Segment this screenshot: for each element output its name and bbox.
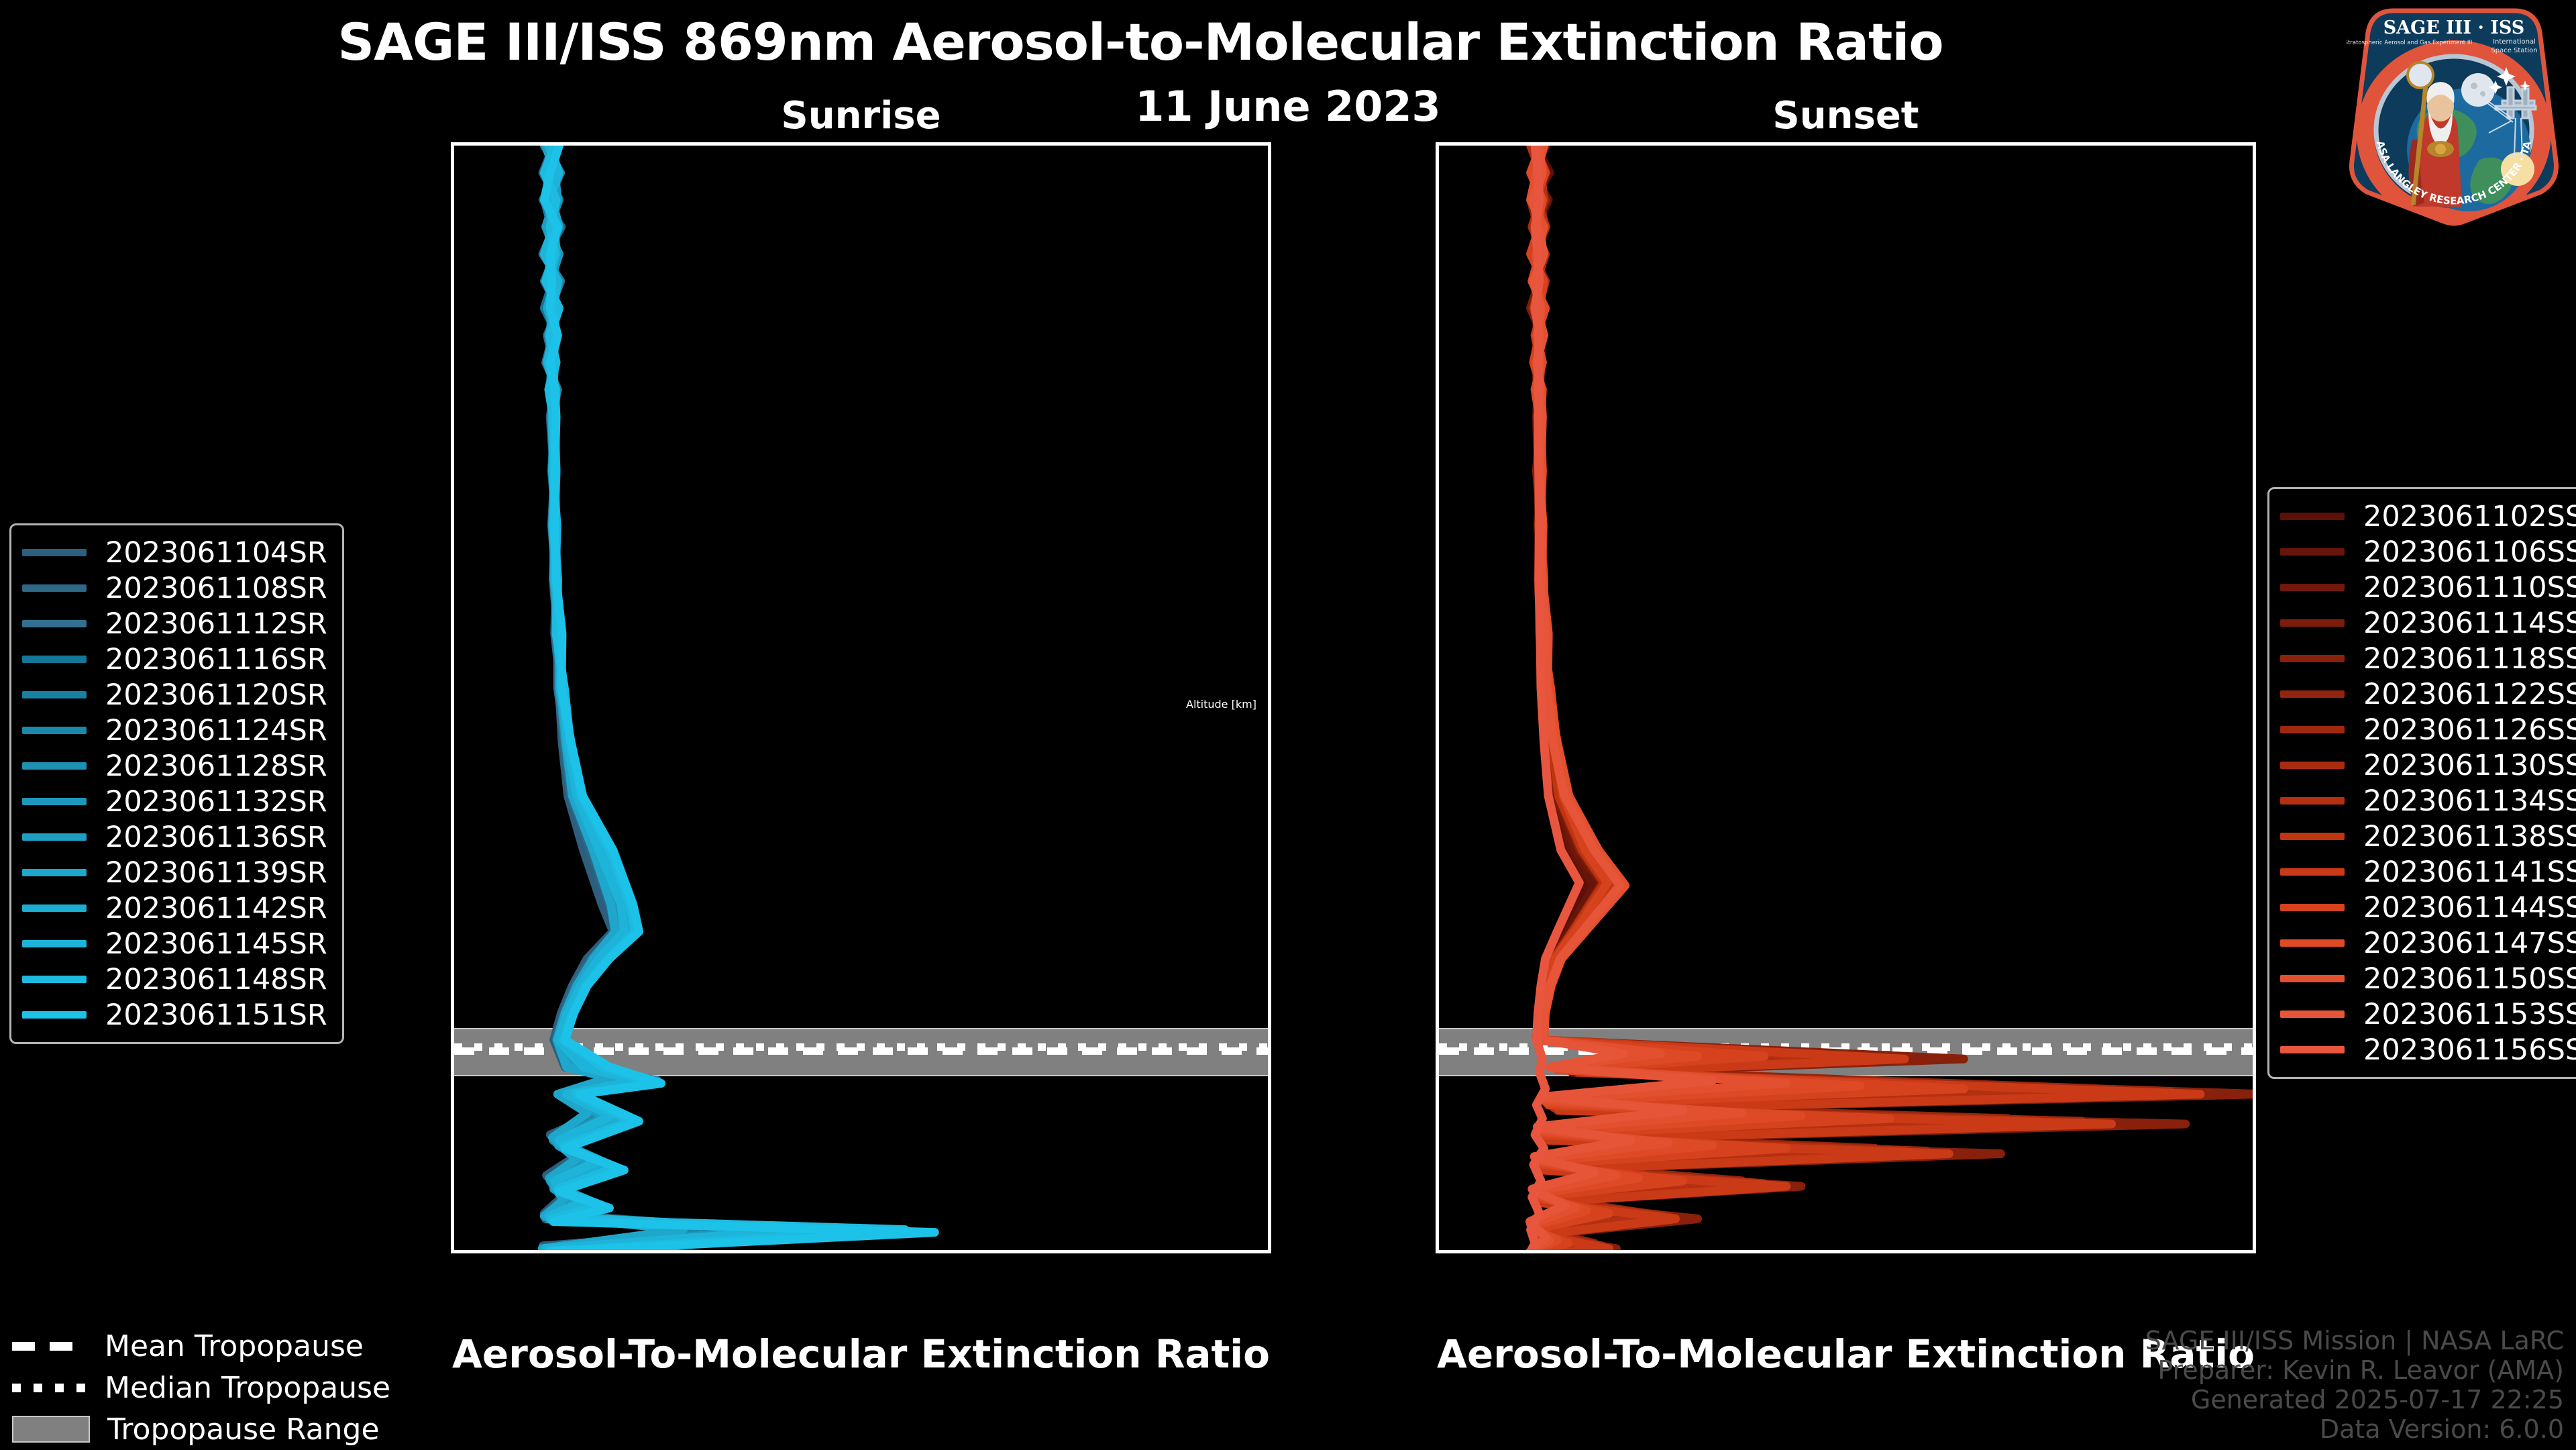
legend-color-swatch (22, 691, 87, 698)
legend-item[interactable]: 2023061120SR (22, 677, 327, 713)
legend-item-label: 2023061106SS (2363, 535, 2576, 569)
logo-title: SAGE III · ISS (2383, 17, 2525, 38)
y-axis-tick-mark (451, 1229, 454, 1231)
legend-color-swatch (2280, 584, 2345, 591)
legend-item-label: 2023061153SS (2363, 998, 2576, 1031)
legend-item[interactable]: 2023061134SS (2280, 783, 2576, 819)
legend-color-swatch (22, 904, 87, 912)
x-axis-label-sunrise: Aerosol-To-Molecular Extinction Ratio (451, 1331, 1271, 1377)
legend-color-swatch (22, 762, 87, 770)
profile-line (544, 146, 801, 1253)
legend-item[interactable]: 2023061141SS (2280, 854, 2576, 890)
legend-item-label: 2023061124SR (105, 714, 327, 747)
legend-color-swatch (22, 656, 87, 663)
panel-title-sunrise: Sunrise (451, 94, 1271, 138)
legend-item-label: 2023061104SR (105, 536, 327, 570)
tropopause-legend-label: Tropopause Range (107, 1412, 380, 1447)
legend-color-swatch (22, 727, 87, 734)
legend-item-label: 2023061142SR (105, 892, 327, 925)
y-axis-tick-mark (451, 551, 454, 554)
legend-item[interactable]: 2023061148SR (22, 962, 327, 997)
tropopause-legend-item[interactable]: Tropopause Range (12, 1408, 390, 1450)
legend-item[interactable]: 2023061110SS (2280, 570, 2576, 605)
legend-item-label: 2023061141SS (2363, 856, 2576, 889)
profile-curves (1439, 146, 2256, 1253)
legend-color-swatch (2280, 975, 2345, 982)
legend-item[interactable]: 2023061130SS (2280, 747, 2576, 783)
y-axis-tick-mark (451, 686, 454, 689)
x-axis-tick-mark (1962, 1250, 1965, 1253)
legend-item-label: 2023061120SR (105, 678, 327, 712)
y-axis-tick-mark (1436, 1229, 1439, 1231)
legend-item[interactable]: 2023061150SS (2280, 961, 2576, 996)
footer-line: Data Version: 6.0.0 (2145, 1414, 2564, 1444)
legend-item-label: 2023061147SS (2363, 927, 2576, 960)
y-axis-tick-mark (1436, 686, 1439, 689)
legend-item-label: 2023061156SS (2363, 1033, 2576, 1067)
y-axis-tick-mark (451, 822, 454, 825)
x-axis-tick-mark (1667, 1250, 1670, 1253)
svg-text:International: International (2493, 38, 2536, 46)
legend-color-swatch (2280, 762, 2345, 769)
legend-item[interactable]: 2023061136SR (22, 819, 327, 855)
y-axis-tick-mark (1436, 551, 1439, 554)
tropopause-legend-item[interactable]: Mean Tropopause (12, 1325, 390, 1367)
legend-color-swatch (2280, 655, 2345, 662)
legend-item-label: 2023061150SS (2363, 962, 2576, 996)
legend-item-label: 2023061112SR (105, 607, 327, 641)
legend-item-label: 2023061108SR (105, 572, 327, 605)
footer-line: Generated 2025-07-17 22:25 (2145, 1385, 2564, 1414)
y-axis-tick-mark (1436, 957, 1439, 960)
y-axis-label-sunset: Altitude [km] (1186, 698, 1256, 711)
svg-text:Space Station: Space Station (2491, 47, 2537, 54)
panel-title-sunset: Sunset (1436, 94, 2256, 138)
legend-color-swatch (2280, 619, 2345, 627)
tropopause-range-swatch (12, 1416, 90, 1443)
legend-item[interactable]: 2023061156SS (2280, 1032, 2576, 1068)
x-axis-tick-mark (1519, 1250, 1521, 1253)
x-axis-tick-mark (534, 1250, 537, 1253)
legend-item-label: 2023061144SS (2363, 891, 2576, 925)
legend-item[interactable]: 2023061116SR (22, 641, 327, 677)
legend-color-swatch (2280, 904, 2345, 911)
legend-color-swatch (22, 833, 87, 841)
legend-color-swatch (2280, 513, 2345, 520)
y-axis-tick-mark (1436, 1093, 1439, 1096)
legend-item-label: 2023061151SR (105, 998, 327, 1032)
legend-item-label: 2023061148SR (105, 963, 327, 996)
footer-line: Preparer: Kevin R. Leavor (AMA) (2145, 1355, 2564, 1385)
legend-sunrise[interactable]: 2023061104SR2023061108SR2023061112SR2023… (9, 523, 344, 1044)
legend-item[interactable]: 2023061106SS (2280, 534, 2576, 570)
y-axis-tick-mark (1436, 280, 1439, 282)
legend-color-swatch (22, 549, 87, 556)
legend-item[interactable]: 2023061114SS (2280, 605, 2576, 641)
legend-color-swatch (2280, 1046, 2345, 1053)
legend-item[interactable]: 2023061118SS (2280, 641, 2576, 676)
legend-color-swatch (2280, 548, 2345, 556)
profile-line (544, 146, 905, 1253)
tropopause-line-swatch (12, 1384, 87, 1392)
chart-panel-sunrise: 101520253035404550020406080100 (451, 142, 1271, 1253)
legend-item[interactable]: 2023061102SS (2280, 499, 2576, 534)
legend-item[interactable]: 2023061153SS (2280, 996, 2576, 1032)
legend-color-swatch (2280, 726, 2345, 733)
legend-color-swatch (2280, 939, 2345, 947)
legend-color-swatch (2280, 868, 2345, 876)
legend-item-label: 2023061102SS (2363, 500, 2576, 533)
legend-color-swatch (22, 869, 87, 876)
legend-item-label: 2023061114SS (2363, 607, 2576, 640)
legend-item[interactable]: 2023061112SR (22, 606, 327, 641)
legend-item[interactable]: 2023061138SS (2280, 819, 2576, 854)
y-axis-tick-mark (451, 144, 454, 147)
tropopause-legend-item[interactable]: Median Tropopause (12, 1367, 390, 1408)
legend-item[interactable]: 2023061147SS (2280, 925, 2576, 961)
legend-item[interactable]: 2023061132SR (22, 784, 327, 819)
legend-item-label: 2023061138SS (2363, 820, 2576, 853)
legend-item[interactable]: 2023061124SR (22, 713, 327, 748)
footer-metadata: SAGE III/ISS Mission | NASA LaRCPreparer… (2145, 1326, 2564, 1444)
profile-line (544, 146, 934, 1253)
legend-item[interactable]: 2023061151SR (22, 997, 327, 1033)
legend-sunset[interactable]: 2023061102SS2023061106SS2023061110SS2023… (2267, 487, 2576, 1079)
y-axis-tick-mark (451, 957, 454, 960)
y-axis-tick-mark (451, 415, 454, 418)
page-title: SAGE III/ISS 869nm Aerosol-to-Molecular … (0, 12, 2281, 72)
legend-color-swatch (2280, 833, 2345, 840)
sage-iii-iss-mission-patch-icon: SAGE III · ISS Stratospheric Aerosol and… (2347, 5, 2561, 227)
legend-item-label: 2023061136SR (105, 821, 327, 854)
y-axis-tick-mark (1436, 144, 1439, 147)
legend-item-label: 2023061118SS (2363, 642, 2576, 676)
legend-item[interactable]: 2023061104SR (22, 535, 327, 570)
legend-item-label: 2023061116SR (105, 643, 327, 676)
legend-item-label: 2023061134SS (2363, 784, 2576, 818)
profile-curves (454, 146, 1271, 1253)
legend-item-label: 2023061132SR (105, 785, 327, 819)
tropopause-legend-label: Mean Tropopause (105, 1329, 364, 1363)
x-axis-tick-mark (1815, 1250, 1817, 1253)
legend-item[interactable]: 2023061144SS (2280, 890, 2576, 925)
legend-item[interactable]: 2023061122SS (2280, 676, 2576, 712)
x-axis-tick-mark (682, 1250, 685, 1253)
legend-color-swatch (22, 976, 87, 983)
x-axis-tick-mark (1126, 1250, 1128, 1253)
legend-item-label: 2023061110SS (2363, 571, 2576, 605)
x-axis-tick-mark (977, 1250, 980, 1253)
chart-panel-sunset: 101520253035404550020406080100 (1436, 142, 2256, 1253)
legend-color-swatch (2280, 690, 2345, 698)
legend-item-label: 2023061139SR (105, 856, 327, 890)
legend-color-swatch (2280, 1011, 2345, 1018)
legend-item[interactable]: 2023061139SR (22, 855, 327, 890)
x-axis-label-sunset: Aerosol-To-Molecular Extinction Ratio (1436, 1331, 2256, 1377)
legend-item-label: 2023061130SS (2363, 749, 2576, 782)
y-axis-tick-mark (451, 1093, 454, 1096)
y-axis-tick-mark (451, 280, 454, 282)
legend-color-swatch (22, 798, 87, 805)
legend-color-swatch (22, 584, 87, 592)
legend-tropopause[interactable]: Mean TropopauseMedian TropopauseTropopau… (12, 1325, 390, 1450)
legend-item[interactable]: 2023061108SR (22, 570, 327, 606)
legend-item[interactable]: 2023061142SR (22, 890, 327, 926)
legend-color-swatch (2280, 797, 2345, 805)
legend-item-label: 2023061122SS (2363, 678, 2576, 711)
legend-color-swatch (22, 940, 87, 947)
y-axis-tick-mark (1436, 822, 1439, 825)
legend-color-swatch (22, 1011, 87, 1019)
legend-color-swatch (22, 620, 87, 627)
legend-item-label: 2023061128SR (105, 749, 327, 783)
x-axis-tick-mark (2110, 1250, 2113, 1253)
legend-item[interactable]: 2023061145SR (22, 926, 327, 962)
logo-subtitle: Stratospheric Aerosol and Gas Experiment… (2347, 40, 2472, 46)
tropopause-line-swatch (12, 1342, 87, 1351)
legend-item[interactable]: 2023061128SR (22, 748, 327, 784)
y-axis-tick-mark (1436, 415, 1439, 418)
tropopause-legend-label: Median Tropopause (105, 1371, 390, 1405)
x-axis-tick-mark (830, 1250, 833, 1253)
footer-line: SAGE III/ISS Mission | NASA LaRC (2145, 1326, 2564, 1355)
legend-item[interactable]: 2023061126SS (2280, 712, 2576, 747)
legend-item-label: 2023061126SS (2363, 713, 2576, 747)
legend-item-label: 2023061145SR (105, 927, 327, 961)
